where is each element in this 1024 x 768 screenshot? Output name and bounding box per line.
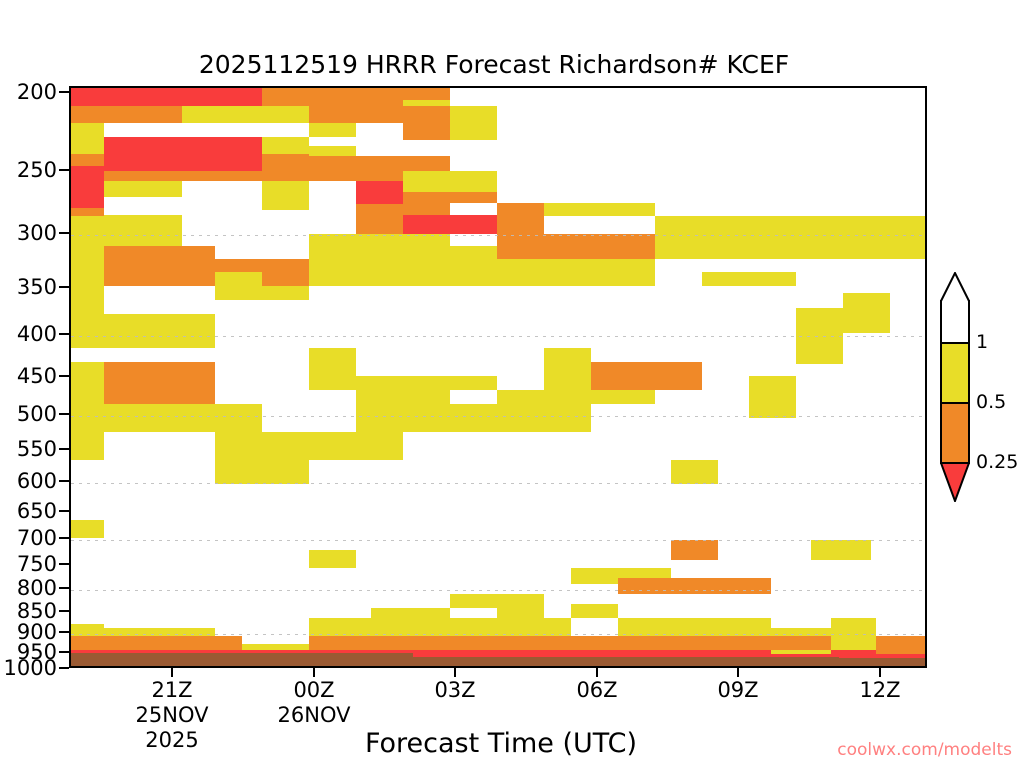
x-axis-tick-mark [171, 668, 173, 677]
x-tick-line2: 26NOV [278, 703, 351, 728]
x-tick-line1: 06Z [576, 678, 617, 703]
credit-text: coolwx.com/modelts [837, 740, 1012, 760]
colorbar-arrow-top-outline [940, 272, 970, 302]
x-tick-line1: 03Z [434, 678, 475, 703]
x-tick-line1: 21Z [136, 678, 209, 703]
colorbar-segment [940, 342, 970, 402]
x-axis-labels: 21Z25NOV202500Z26NOV03Z06Z09Z12Z [0, 0, 1024, 768]
colorbar-label: 0.5 [976, 391, 1006, 413]
colorbar: 10.50.25 [940, 300, 970, 480]
colorbar-arrow-bottom [940, 462, 970, 502]
chart-root: 2025112519 HRRR Forecast Richardson# KCE… [0, 0, 1024, 768]
x-axis-tick-label: 03Z [434, 678, 475, 703]
colorbar-label: 1 [976, 331, 988, 353]
x-axis-tick-mark [737, 668, 739, 677]
x-axis-tick-mark [596, 668, 598, 677]
x-axis-tick-label: 09Z [717, 678, 758, 703]
x-axis-tick-mark [454, 668, 456, 677]
x-tick-line1: 09Z [717, 678, 758, 703]
colorbar-tick [940, 342, 970, 344]
x-tick-line1: 12Z [859, 678, 900, 703]
x-axis-tick-label: 12Z [859, 678, 900, 703]
colorbar-tick [940, 462, 970, 464]
colorbar-segment [940, 300, 970, 342]
x-axis-title-text: Forecast Time (UTC) [365, 728, 637, 759]
colorbar-label: 0.25 [976, 451, 1018, 473]
x-axis-tick-label: 00Z26NOV [278, 678, 351, 728]
x-axis-tick-label: 06Z [576, 678, 617, 703]
x-axis-tick-mark [879, 668, 881, 677]
colorbar-tick [940, 402, 970, 404]
x-tick-line1: 00Z [278, 678, 351, 703]
x-axis-tick-mark [313, 668, 315, 677]
x-tick-line2: 25NOV [136, 703, 209, 728]
colorbar-segment [940, 402, 970, 462]
